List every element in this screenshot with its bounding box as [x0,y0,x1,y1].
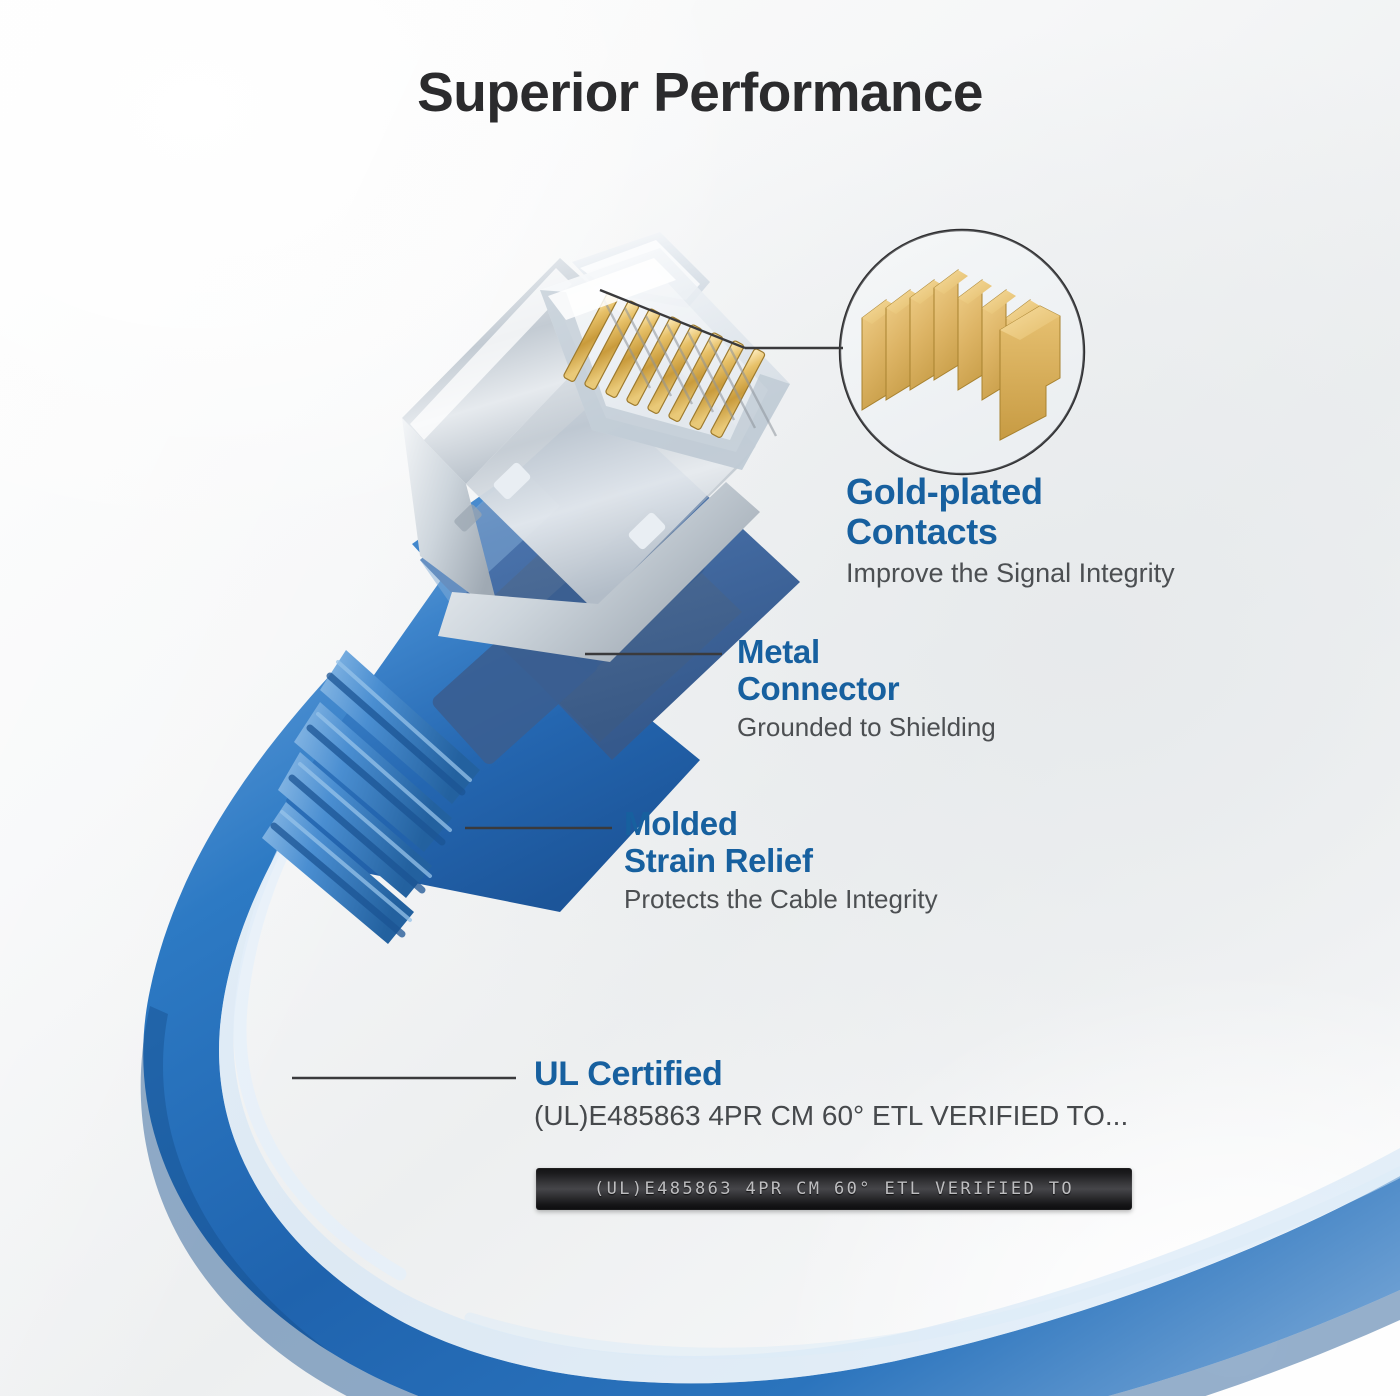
callout-subtitle: Grounded to Shielding [737,712,1157,743]
callout-metal-connector: Metal Connector Grounded to Shielding [737,634,1157,743]
callout-heading: Metal Connector [737,634,1157,708]
callout-subtitle: (UL)E485863 4PR CM 60° ETL VERIFIED TO..… [534,1099,1214,1133]
callout-heading: Molded Strain Relief [624,806,1094,880]
callout-heading: UL Certified [534,1055,1214,1093]
callout-molded-strain-relief: Molded Strain Relief Protects the Cable … [624,806,1094,915]
cable-print-text: (UL)E485863 4PR CM 60° ETL VERIFIED TO [594,1179,1074,1199]
callout-subtitle: Improve the Signal Integrity [846,557,1266,589]
callout-gold-plated-contacts: Gold-plated Contacts Improve the Signal … [846,472,1266,589]
callout-heading: Gold-plated Contacts [846,472,1266,553]
gold-contacts-inset [840,230,1084,474]
callout-ul-certified: UL Certified (UL)E485863 4PR CM 60° ETL … [534,1055,1214,1133]
callout-subtitle: Protects the Cable Integrity [624,884,1094,915]
cable-jacket-print-strip: (UL)E485863 4PR CM 60° ETL VERIFIED TO [536,1168,1132,1210]
